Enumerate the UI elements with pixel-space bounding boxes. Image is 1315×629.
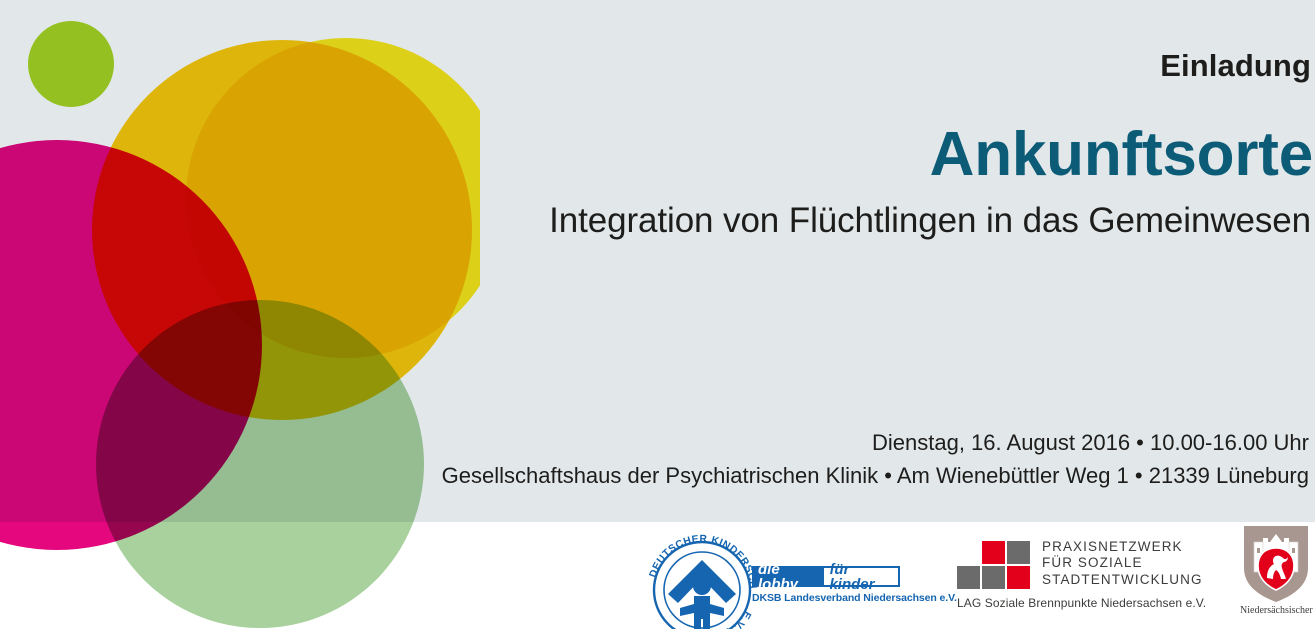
square-grey-top xyxy=(1007,541,1030,564)
logo-strip: DEUTSCHER KINDERSCHUTZBUND E.V. (DKSB) d… xyxy=(0,522,1315,629)
dksb-claim-box: die lobby für kinder xyxy=(752,566,900,587)
praxisnetzwerk-row: PRAXISNETZWERK FÜR SOZIALE STADTENTWICKL… xyxy=(957,539,1197,590)
praxisnetzwerk-line-2: FÜR SOZIALE xyxy=(1042,555,1203,571)
square-grey-left xyxy=(957,566,980,589)
dksb-claim-left: die lobby xyxy=(754,568,824,585)
praxisnetzwerk-line-3: STADTENTWICKLUNG xyxy=(1042,572,1203,588)
page-subtitle: Integration von Flüchtlingen in das Geme… xyxy=(549,203,1311,240)
square-red-right xyxy=(1007,566,1030,589)
square-grey-mid xyxy=(982,566,1005,589)
square-red-top xyxy=(982,541,1005,564)
dksb-wordmark: die lobby für kinder DKSB Landesverband … xyxy=(752,566,922,616)
kicker-label: Einladung xyxy=(1160,50,1311,81)
event-details: Dienstag, 16. August 2016 • 10.00-16.00 … xyxy=(442,426,1309,492)
dksb-subline: DKSB Landesverband Niedersachsen e.V. xyxy=(752,592,922,604)
dksb-claim-right: für kinder xyxy=(824,568,898,585)
praxisnetzwerk-line-1: PRAXISNETZWERK xyxy=(1042,539,1203,555)
event-date-time: Dienstag, 16. August 2016 • 10.00-16.00 … xyxy=(442,426,1309,459)
praxisnetzwerk-logo: PRAXISNETZWERK FÜR SOZIALE STADTENTWICKL… xyxy=(957,539,1197,619)
praxisnetzwerk-lines: PRAXISNETZWERK FÜR SOZIALE STADTENTWICKL… xyxy=(1042,539,1203,588)
poster-canvas: Einladung Ankunftsorte Integration von F… xyxy=(0,0,1315,629)
lower-saxony-coat-of-arms-icon: Niedersächsischer xyxy=(1240,524,1312,629)
event-venue: Gesellschaftshaus der Psychiatrischen Kl… xyxy=(442,459,1309,492)
dksb-seal-icon: DEUTSCHER KINDERSCHUTZBUND E.V. (DKSB) xyxy=(640,528,760,629)
headline-block: Einladung Ankunftsorte Integration von F… xyxy=(0,0,1315,522)
lower-saxony-caption: Niedersächsischer xyxy=(1240,605,1312,616)
praxisnetzwerk-squares-icon xyxy=(957,541,1031,590)
praxisnetzwerk-subline: LAG Soziale Brennpunkte Niedersachsen e.… xyxy=(957,596,1197,610)
page-title: Ankunftsorte xyxy=(930,124,1313,186)
